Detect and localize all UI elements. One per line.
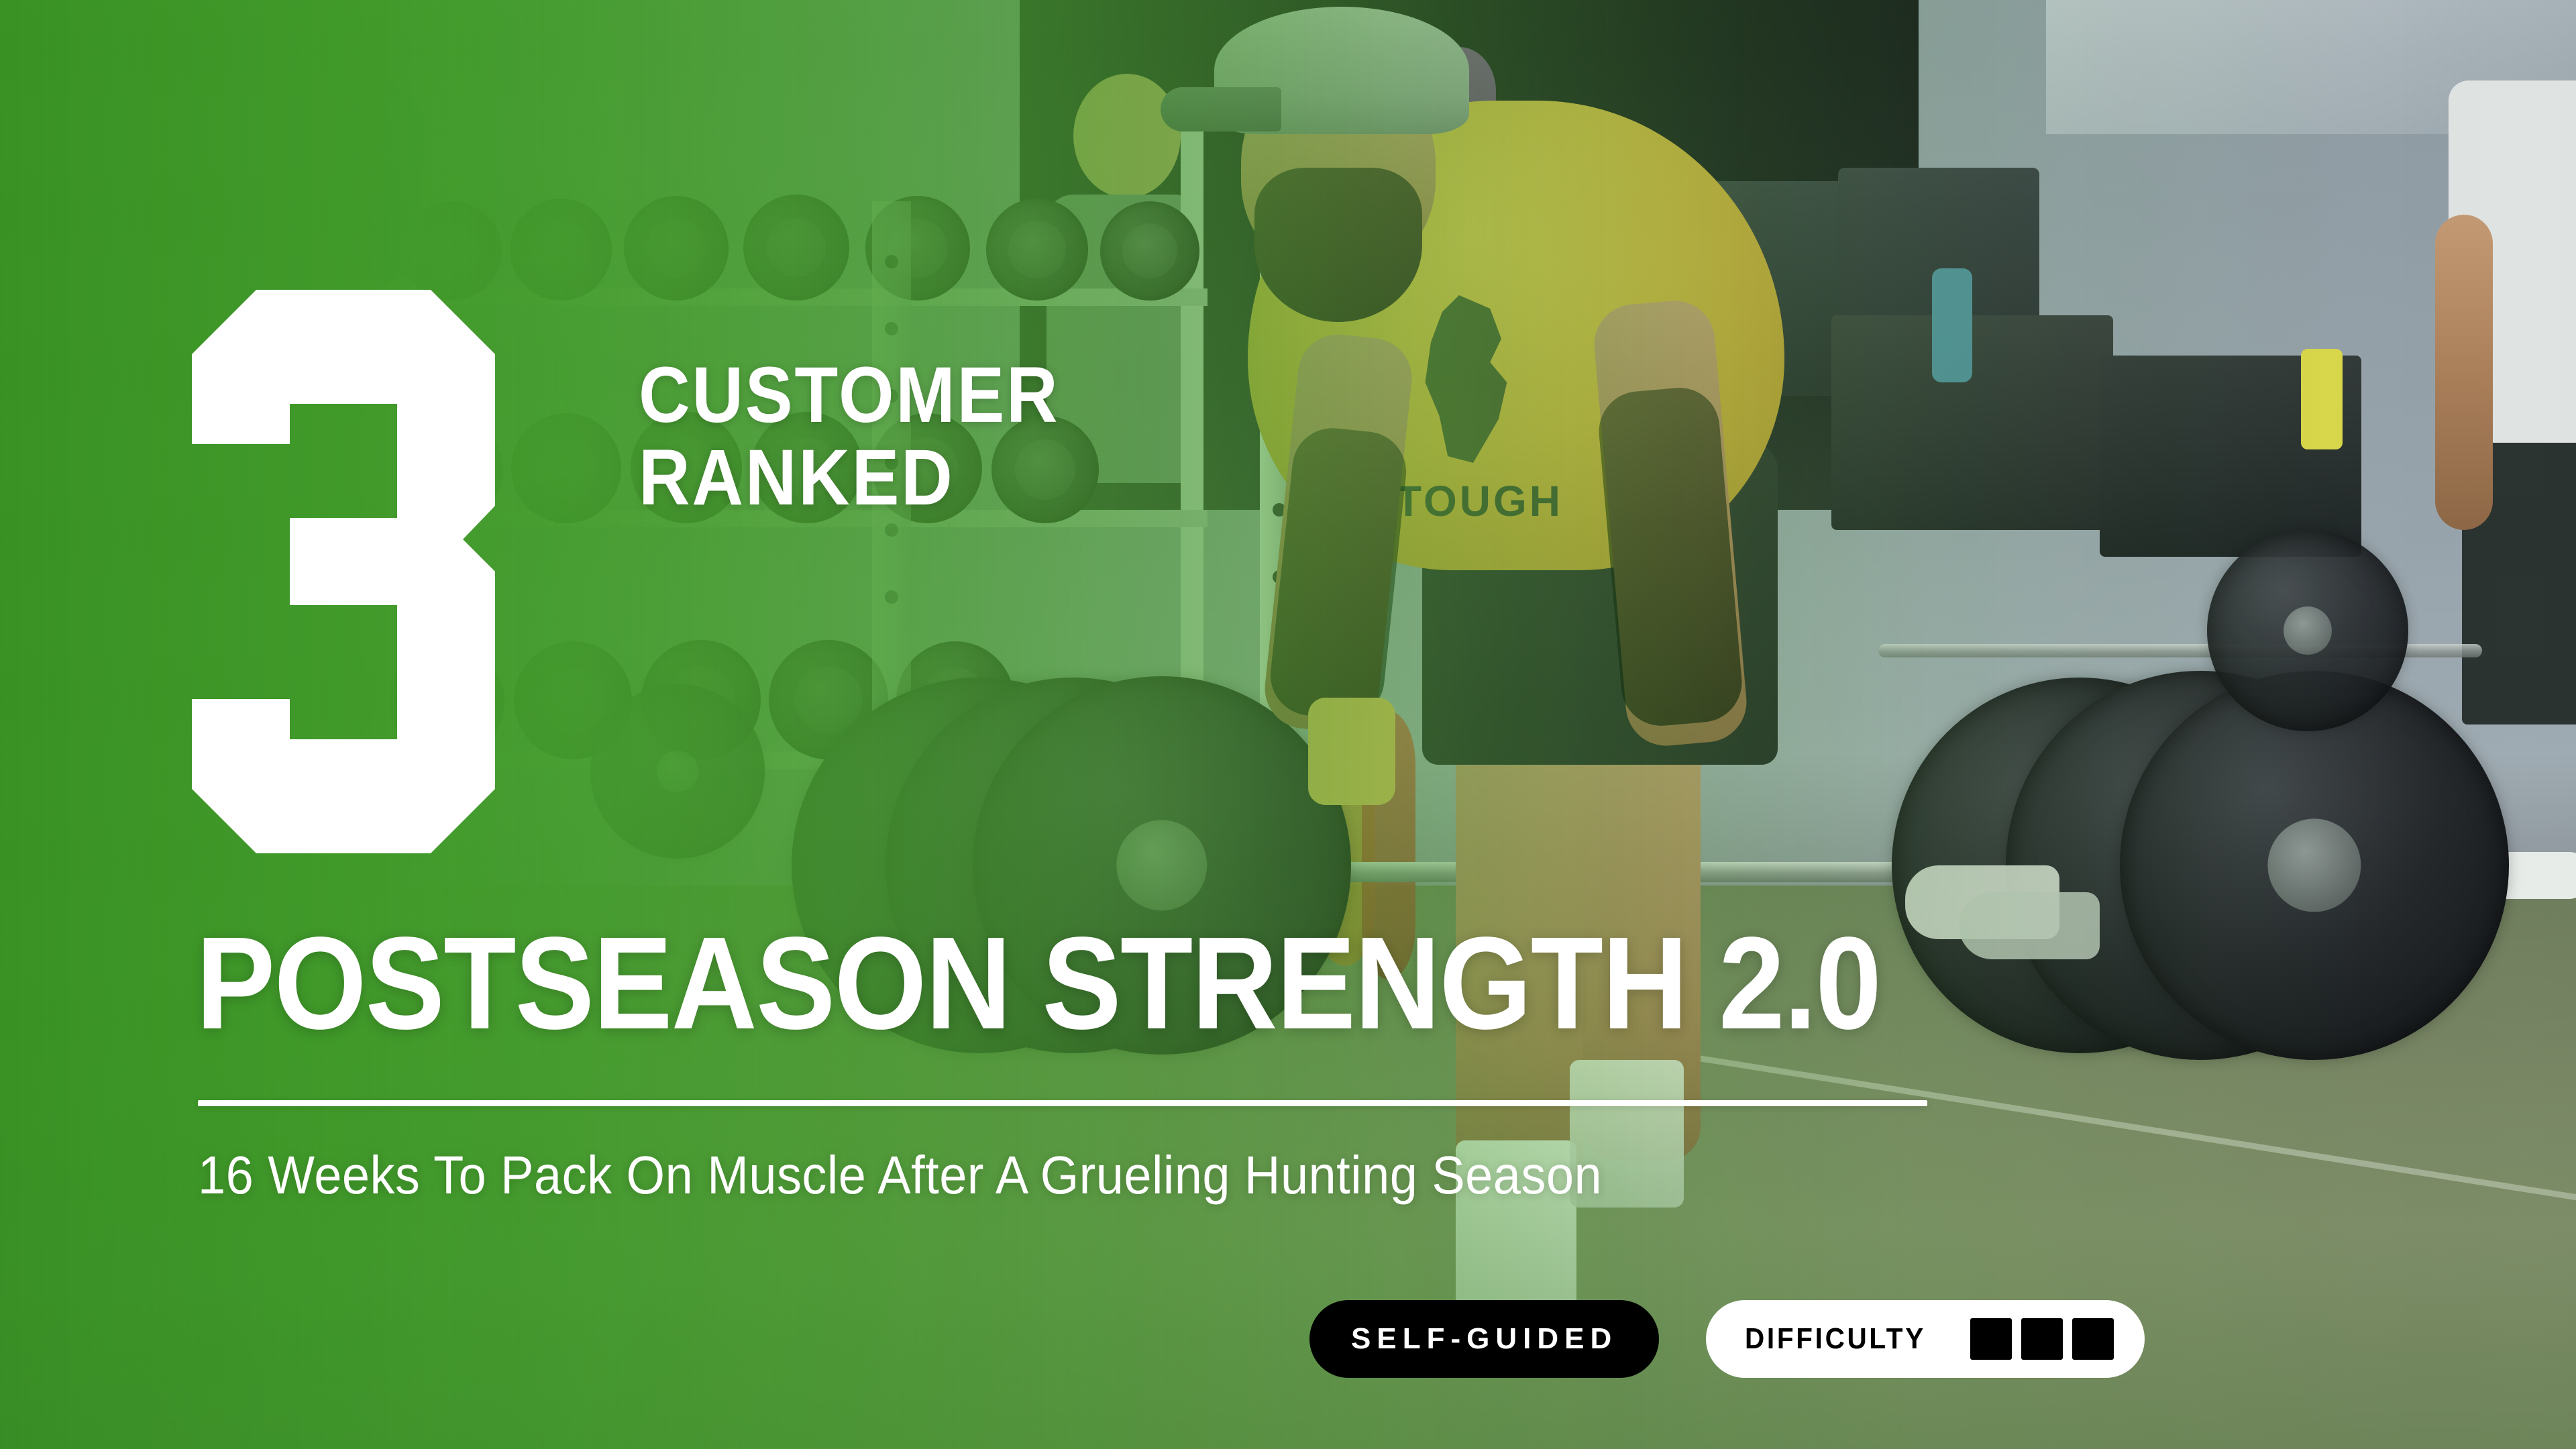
hero-content: CUSTOMER RANKED POSTSEASON STRENGTH 2.0 … bbox=[0, 0, 2576, 1449]
difficulty-block bbox=[2072, 1318, 2114, 1360]
difficulty-meter bbox=[1970, 1318, 2114, 1360]
self-guided-label: SELF-GUIDED bbox=[1351, 1322, 1617, 1356]
difficulty-block bbox=[1970, 1318, 2012, 1360]
program-hero-card: TOUGH CUSTOME bbox=[0, 0, 2576, 1449]
eyebrow-line-2: RANKED bbox=[639, 437, 1059, 519]
program-subtitle: 16 Weeks To Pack On Muscle After A Gruel… bbox=[198, 1146, 1602, 1205]
title-divider bbox=[198, 1100, 1927, 1106]
customer-ranked-eyebrow: CUSTOMER RANKED bbox=[639, 354, 1059, 519]
badge-row: SELF-GUIDED DIFFICULTY bbox=[1309, 1300, 2145, 1378]
difficulty-badge[interactable]: DIFFICULTY bbox=[1706, 1300, 2144, 1378]
self-guided-badge[interactable]: SELF-GUIDED bbox=[1309, 1300, 1659, 1378]
difficulty-block bbox=[2021, 1318, 2063, 1360]
difficulty-label: DIFFICULTY bbox=[1745, 1322, 1926, 1356]
eyebrow-line-1: CUSTOMER bbox=[639, 351, 1059, 439]
rank-number bbox=[192, 290, 495, 853]
program-title: POSTSEASON STRENGTH 2.0 bbox=[196, 918, 1880, 1049]
